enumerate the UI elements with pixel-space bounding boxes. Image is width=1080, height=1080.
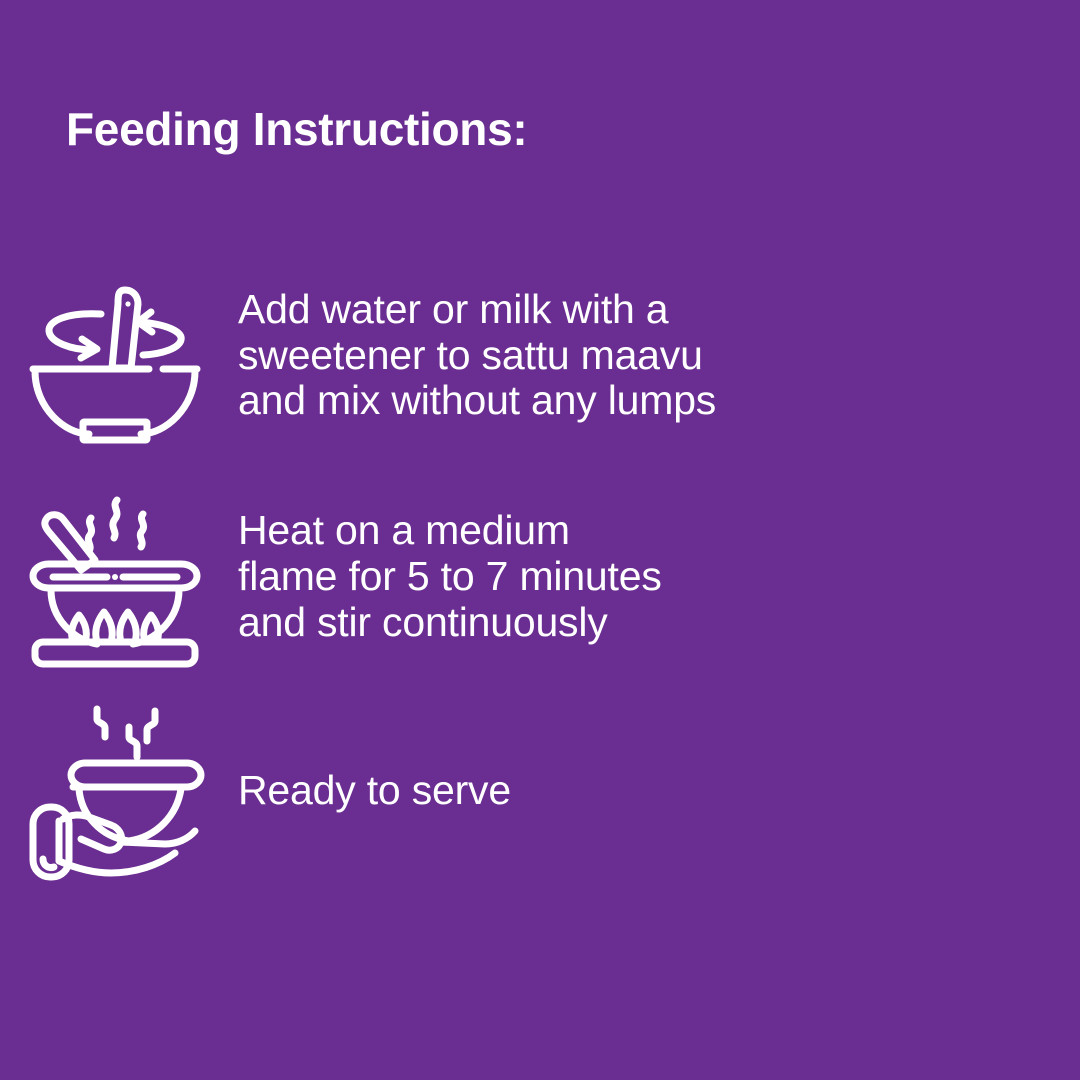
feeding-instructions-card: Feeding Instructions: (0, 0, 1080, 1080)
step-1-text: Add water or milk with a sweetener to sa… (230, 287, 716, 425)
mixing-bowl-with-spoon-and-stir-arrows-icon (27, 268, 203, 444)
page-title: Feeding Instructions: (66, 104, 527, 155)
step-3-text: Ready to serve (230, 768, 511, 814)
step-3-icon-wrapper (0, 691, 230, 891)
step-2-line-1: Heat on a medium (238, 508, 662, 554)
step-item-3: Ready to serve (0, 691, 1080, 891)
step-2-line-2: flame for 5 to 7 minutes (238, 554, 662, 600)
step-1-line-1: Add water or milk with a (238, 287, 716, 333)
hand-holding-steaming-bowl-icon (25, 701, 205, 881)
step-3-line-1: Ready to serve (238, 768, 511, 814)
step-2-text: Heat on a medium flame for 5 to 7 minute… (230, 508, 662, 646)
step-2-line-3: and stir continuously (238, 600, 662, 646)
step-1-line-2: sweetener to sattu maavu (238, 333, 716, 379)
pan-on-stove-flame-with-steam-icon (25, 484, 205, 670)
step-2-icon-wrapper (0, 463, 230, 691)
step-item-2: Heat on a medium flame for 5 to 7 minute… (0, 463, 1080, 691)
steps-list: Add water or milk with a sweetener to sa… (0, 248, 1080, 891)
step-1-icon-wrapper (0, 248, 230, 463)
step-item-1: Add water or milk with a sweetener to sa… (0, 248, 1080, 463)
step-1-line-3: and mix without any lumps (238, 378, 716, 424)
